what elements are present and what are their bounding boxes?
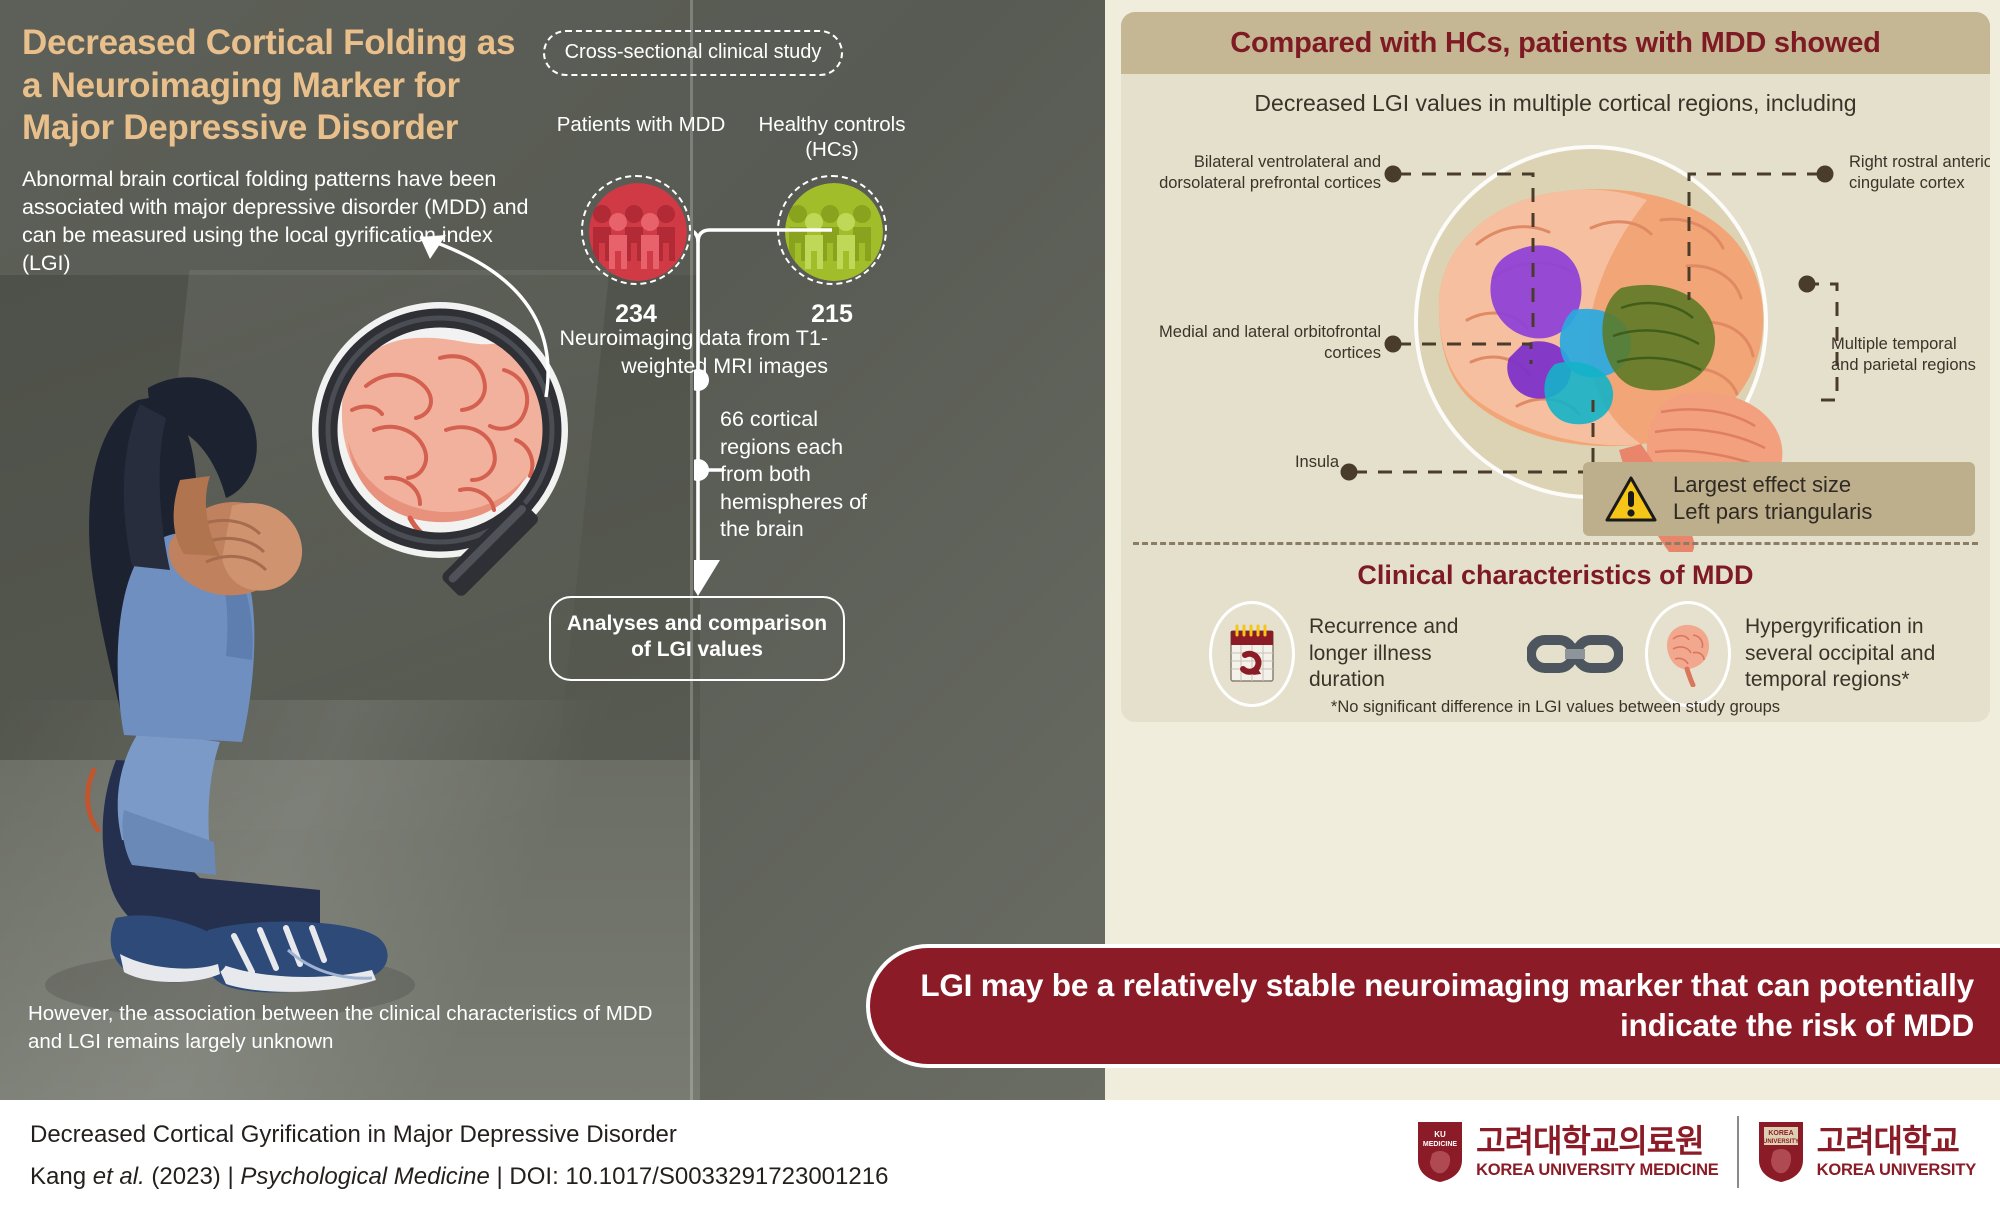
clinical-footnote: *No significant difference in LGI values… xyxy=(1121,698,1990,717)
ku-medicine-shield-icon: KU MEDICINE xyxy=(1416,1120,1464,1184)
logo-en-text-0: KOREA UNIVERSITY MEDICINE xyxy=(1476,1161,1719,1180)
calendar-recurrence-icon xyxy=(1227,623,1277,685)
logo-separator xyxy=(1737,1116,1739,1188)
footer-journal: Psychological Medicine xyxy=(240,1163,489,1190)
conclusion-text: LGI may be a relatively stable neuroimag… xyxy=(870,966,1974,1045)
warning-triangle-icon xyxy=(1605,475,1657,523)
chain-link-icon xyxy=(1527,632,1623,676)
section-divider xyxy=(1133,542,1978,545)
korea-university-shield-icon: KOREA UNIVERSITY xyxy=(1757,1120,1805,1184)
clinical-section-title: Clinical characteristics of MDD xyxy=(1121,560,1990,591)
analysis-box: Analyses and comparison of LGI values xyxy=(549,596,845,681)
svg-text:MEDICINE: MEDICINE xyxy=(1423,1141,1458,1148)
region-label-racc: Right rostral anterior cingulate cortex xyxy=(1849,152,1990,194)
region-label-insula: Insula xyxy=(1129,452,1339,473)
region-label-temporal-parietal: Multiple temporal and parietal regions xyxy=(1831,334,1987,376)
footer-authors: Kang xyxy=(30,1163,93,1190)
largest-effect-badge: Largest effect size Left pars triangular… xyxy=(1583,462,1975,536)
footer-doi: | DOI: 10.1017/S0033291723001216 xyxy=(490,1163,889,1190)
results-card: Compared with HCs, patients with MDD sho… xyxy=(1121,12,1990,722)
svg-text:KOREA: KOREA xyxy=(1768,1130,1793,1137)
results-subheader: Decreased LGI values in multiple cortica… xyxy=(1121,90,1990,117)
cortical-regions-text: 66 cortical regions each from both hemis… xyxy=(720,406,885,544)
clinical-items-row: Recurrence and longer illness duration xyxy=(1121,606,1990,702)
effect-line-2: Left pars triangularis xyxy=(1673,499,1872,526)
footer: Decreased Cortical Gyrification in Major… xyxy=(0,1100,2000,1229)
infographic-canvas: Decreased Cortical Folding as a Neuroima… xyxy=(0,0,2000,1229)
logo-ko-text-0: 고려대학교의료원 xyxy=(1476,1125,1719,1157)
logo-en-text-1: KOREA UNIVERSITY xyxy=(1817,1161,1976,1180)
footer-year: (2023) | xyxy=(145,1163,241,1190)
region-label-orbitofrontal: Medial and lateral orbitofrontal cortice… xyxy=(1129,322,1381,364)
mdd-people-icon xyxy=(589,183,687,281)
results-panel: Compared with HCs, patients with MDD sho… xyxy=(1111,0,2000,1100)
mri-data-text: Neuroimaging data from T1-weighted MRI i… xyxy=(528,325,828,380)
clinical-item-0-oval xyxy=(1209,601,1295,707)
footer-logos: KU MEDICINE 고려대학교의료원 KOREA UNIVERSITY ME… xyxy=(1416,1116,1976,1188)
group-circle-mdd xyxy=(581,175,691,285)
region-label-vlpfc-dlpfc: Bilateral ventrolateral and dorsolateral… xyxy=(1129,152,1381,194)
clinical-item-1-oval xyxy=(1645,601,1731,707)
svg-text:KU: KU xyxy=(1434,1130,1446,1139)
svg-text:UNIVERSITY: UNIVERSITY xyxy=(1763,1139,1799,1145)
brain-icon xyxy=(1659,621,1717,687)
study-flow-column: Cross-sectional clinical study Patients … xyxy=(694,0,1105,1100)
panel-divider-left xyxy=(690,0,693,1100)
logo-korea-university: KOREA UNIVERSITY 고려대학교 KOREA UNIVERSITY xyxy=(1757,1120,1976,1184)
conclusion-banner: LGI may be a relatively stable neuroimag… xyxy=(866,944,2000,1068)
results-header: Compared with HCs, patients with MDD sho… xyxy=(1121,12,1990,74)
page-title: Decreased Cortical Folding as a Neuroima… xyxy=(22,22,532,150)
logo-korea-university-medicine: KU MEDICINE 고려대학교의료원 KOREA UNIVERSITY ME… xyxy=(1416,1120,1719,1184)
effect-line-1: Largest effect size xyxy=(1673,472,1872,499)
clinical-item-1-text: Hypergyrification in several occipital a… xyxy=(1745,614,1973,695)
footer-etal: et al. xyxy=(93,1163,145,1190)
footer-text: Decreased Cortical Gyrification in Major… xyxy=(30,1118,888,1195)
clinical-item-0-text: Recurrence and longer illness duration xyxy=(1309,614,1505,695)
left-bottom-note: However, the association between the cli… xyxy=(28,1000,668,1055)
footer-citation: Kang et al. (2023) | Psychological Medic… xyxy=(30,1159,888,1195)
logo-ko-text-1: 고려대학교 xyxy=(1817,1125,1976,1157)
footer-paper-title: Decreased Cortical Gyrification in Major… xyxy=(30,1118,888,1153)
effect-badge-text: Largest effect size Left pars triangular… xyxy=(1673,472,1872,526)
